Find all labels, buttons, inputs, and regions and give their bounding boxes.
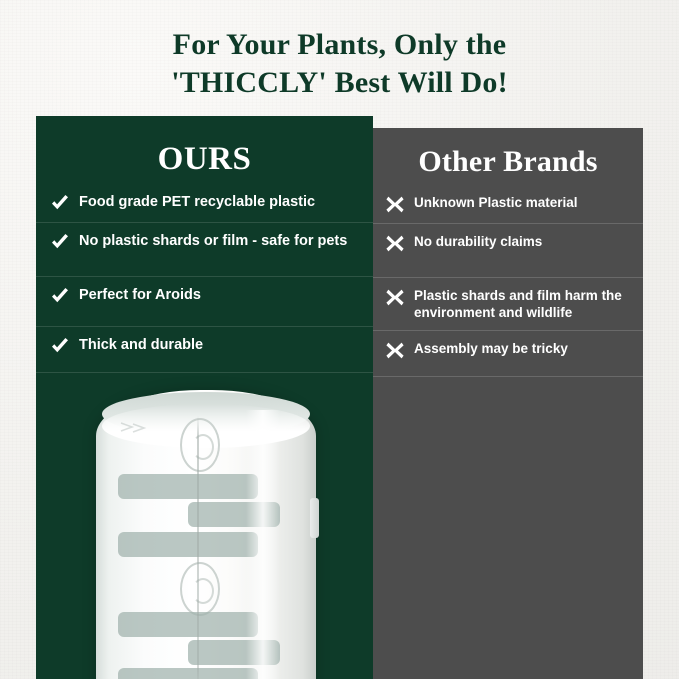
list-item: Plastic shards and film harm the environ…: [373, 278, 643, 331]
list-item: Assembly may be tricky: [373, 331, 643, 377]
cross-icon: [385, 234, 405, 253]
list-item-label: Assembly may be tricky: [414, 340, 568, 357]
comparison-column-ours: OURS Food grade PET recyclable plastic N…: [36, 116, 373, 679]
list-item: Unknown Plastic material: [373, 185, 643, 224]
cross-icon: [385, 341, 405, 360]
page-title: For Your Plants, Only the 'THICCLY' Best…: [0, 26, 679, 103]
connector-tab-icon: [180, 562, 220, 616]
slot: [118, 532, 258, 557]
page-title-line-1: For Your Plants, Only the: [0, 26, 679, 64]
page-title-line-2: 'THICCLY' Best Will Do!: [0, 64, 679, 102]
comparison-column-other-brands: Other Brands Unknown Plastic material No…: [373, 128, 643, 679]
list-item: No plastic shards or film - safe for pet…: [36, 223, 373, 277]
list-item-label: Food grade PET recyclable plastic: [79, 193, 315, 212]
comparison-table: OURS Food grade PET recyclable plastic N…: [36, 116, 643, 679]
column-header-other-brands: Other Brands: [373, 128, 643, 185]
check-icon: [50, 194, 70, 213]
cross-icon: [385, 195, 405, 214]
brand-emboss-icon: [120, 420, 154, 434]
check-icon: [50, 337, 70, 356]
product-image-ours: [36, 372, 373, 679]
slot: [118, 474, 258, 499]
list-item: Food grade PET recyclable plastic: [36, 184, 373, 223]
list-item-label: No durability claims: [414, 233, 542, 250]
column-header-ours: OURS: [36, 116, 373, 184]
list-item-label: Plastic shards and film harm the environ…: [414, 287, 635, 321]
list-item: No durability claims: [373, 224, 643, 278]
feature-list-other-brands: Unknown Plastic material No durability c…: [373, 185, 643, 377]
side-clip: [310, 498, 319, 538]
list-item: Thick and durable: [36, 327, 373, 373]
cross-icon: [385, 288, 405, 307]
connector-tab-icon: [180, 418, 220, 472]
slot: [118, 612, 258, 637]
list-item-label: Unknown Plastic material: [414, 194, 578, 211]
list-item-label: No plastic shards or film - safe for pet…: [79, 232, 347, 251]
list-item-label: Thick and durable: [79, 336, 203, 355]
list-item-label: Perfect for Aroids: [79, 286, 201, 305]
slot: [118, 668, 258, 679]
moss-pole-sleeve: [96, 390, 316, 679]
check-icon: [50, 233, 70, 252]
sleeve-highlight: [246, 410, 280, 679]
feature-list-ours: Food grade PET recyclable plastic No pla…: [36, 184, 373, 373]
list-item: Perfect for Aroids: [36, 277, 373, 327]
check-icon: [50, 287, 70, 306]
sleeve-seam: [197, 416, 199, 679]
